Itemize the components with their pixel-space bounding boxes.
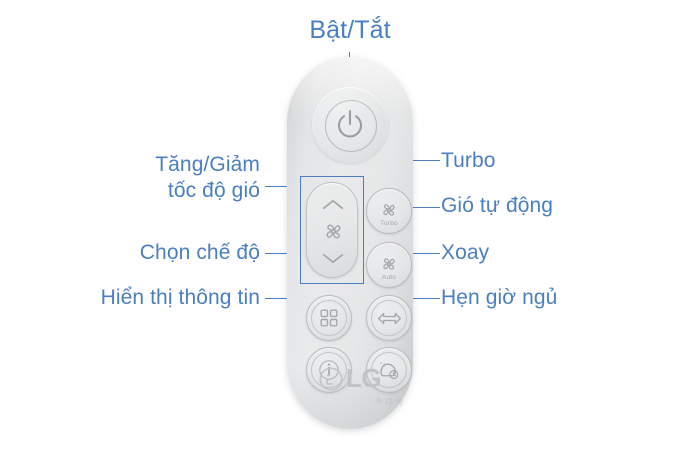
mode-button[interactable] xyxy=(306,295,352,341)
power-icon xyxy=(333,108,367,142)
diagram-canvas: Bật/Tắt Tăng/Giảm tốc độ gió Chọn chế độ… xyxy=(0,0,700,467)
callout-rotate: Xoay xyxy=(441,240,641,266)
power-button[interactable] xyxy=(312,87,388,163)
lg-logo: LG xyxy=(287,363,413,394)
auto-button[interactable]: Auto xyxy=(366,242,412,288)
callout-turbo-text: Turbo xyxy=(441,149,496,172)
callout-info: Hiển thị thông tin xyxy=(25,285,260,311)
fan-speed-highlight-box xyxy=(300,176,364,284)
callout-fan-speed-line1: Tăng/Giảm xyxy=(155,153,260,176)
turbo-button[interactable]: Turbo xyxy=(366,188,412,234)
callout-fan-speed-line2: tốc độ gió xyxy=(60,178,260,204)
callout-turbo: Turbo xyxy=(441,148,641,174)
remote-control-body: Turbo Auto xyxy=(287,57,413,429)
callout-mode: Chọn chế độ xyxy=(60,240,260,266)
lg-circle-icon xyxy=(319,367,343,391)
callout-fan-speed: Tăng/Giảm tốc độ gió xyxy=(60,152,260,204)
callout-auto: Gió tự động xyxy=(441,193,661,219)
callout-sleep: Hẹn giờ ngủ xyxy=(441,285,661,311)
double-arrow-horizontal-icon xyxy=(377,311,402,326)
rotate-button[interactable] xyxy=(366,295,412,341)
brightness-icon xyxy=(375,397,383,405)
auto-button-caption: Auto xyxy=(382,274,396,281)
fan-icon xyxy=(378,253,400,275)
callout-mode-text: Chọn chế độ xyxy=(140,241,260,264)
fan-icon xyxy=(378,199,400,221)
callout-power-text: Bật/Tắt xyxy=(309,16,390,44)
callout-power: Bật/Tắt xyxy=(250,17,450,43)
lg-wordmark: LG xyxy=(346,363,381,394)
callout-rotate-text: Xoay xyxy=(441,241,489,264)
sleep-sublabel-text: (2 s) xyxy=(386,397,404,406)
turbo-button-caption: Turbo xyxy=(380,220,398,227)
grid-squares-icon xyxy=(319,308,339,328)
callout-sleep-text: Hẹn giờ ngủ xyxy=(441,286,557,309)
sleep-button-sublabel: (2 s) xyxy=(359,397,419,406)
callout-auto-text: Gió tự động xyxy=(441,194,553,217)
callout-info-text: Hiển thị thông tin xyxy=(101,286,260,309)
